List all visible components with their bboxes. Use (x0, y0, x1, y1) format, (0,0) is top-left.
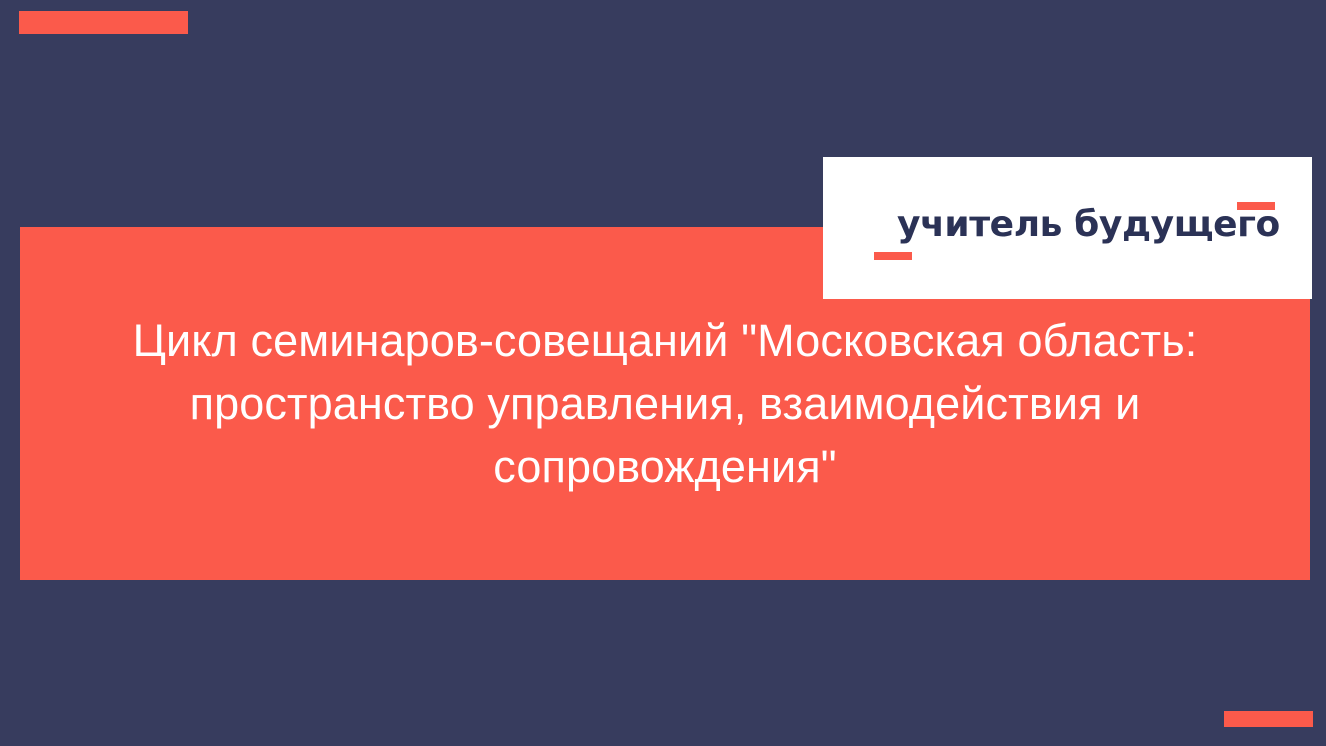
top-left-accent-bar (19, 11, 188, 34)
logo-leading-dash-icon (874, 252, 912, 260)
logo-trailing-dash-icon (1237, 202, 1275, 210)
logo-lockup: учитель будущего (823, 157, 1312, 299)
bottom-right-accent-bar (1224, 711, 1313, 727)
presentation-slide: Цикл семинаров-совещаний "Московская обл… (0, 0, 1326, 746)
logo-card: учитель будущего (823, 157, 1312, 299)
slide-title: Цикл семинаров-совещаний "Московская обл… (113, 309, 1218, 498)
logo-wordmark: учитель будущего (897, 203, 1280, 247)
